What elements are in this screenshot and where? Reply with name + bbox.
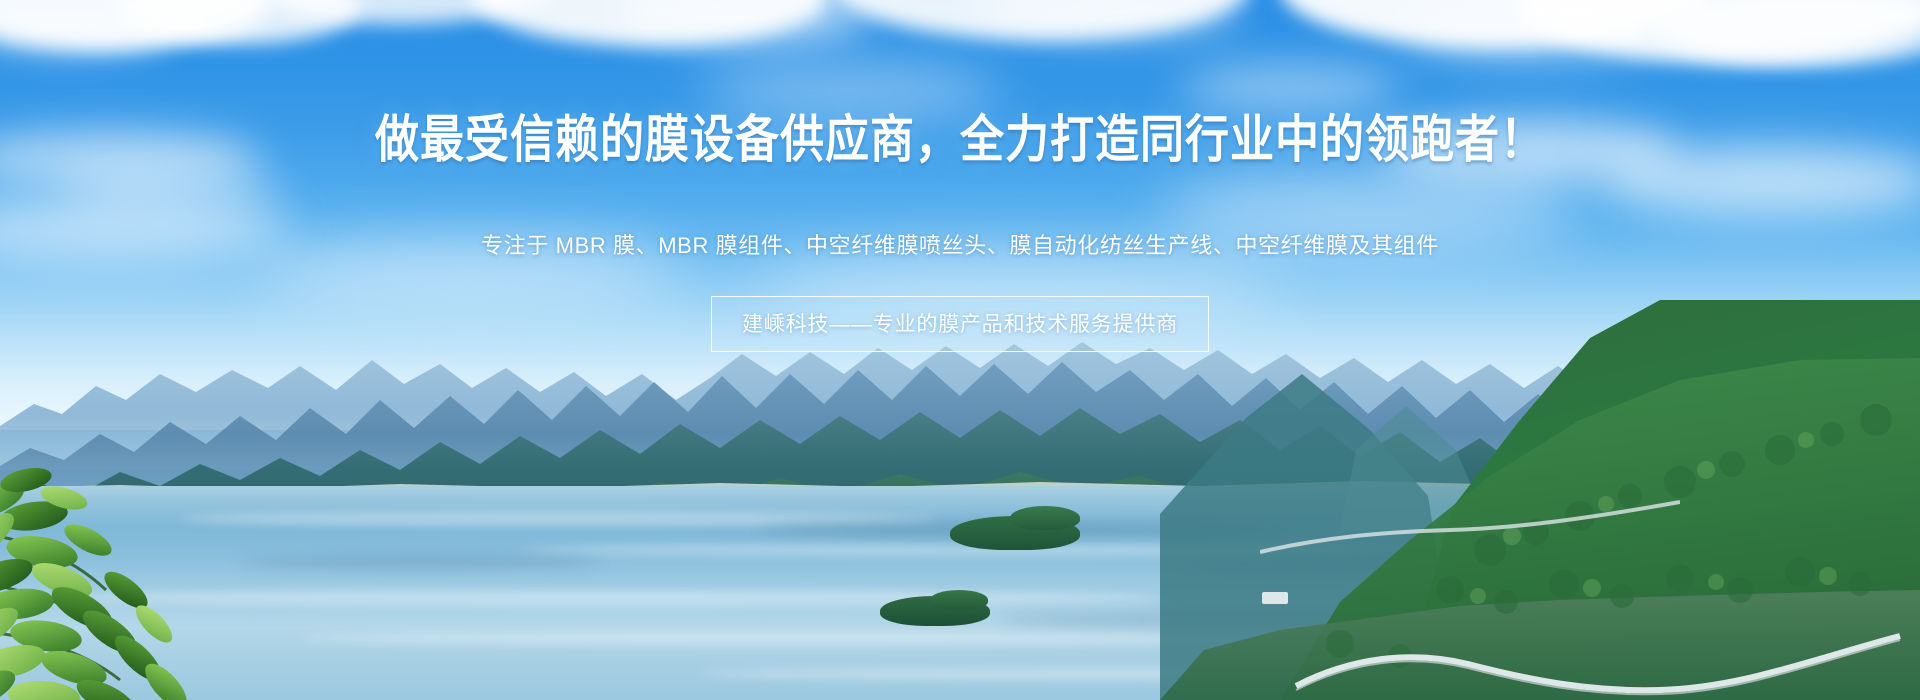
shore-building: [1262, 592, 1288, 604]
banner-tagline-box: 建嵊科技——专业的膜产品和技术服务提供商: [711, 296, 1209, 352]
tagline-container: 建嵊科技——专业的膜产品和技术服务提供商: [0, 296, 1920, 352]
island: [930, 590, 988, 610]
foreground-foliage: [0, 380, 390, 700]
hero-banner: 做最受信赖的膜设备供应商，全力打造同行业中的领跑者！ 专注于 MBR 膜、MBR…: [0, 0, 1920, 700]
cloud-icon: [1400, 6, 1660, 60]
cloud-icon: [1180, 64, 1400, 112]
banner-headline: 做最受信赖的膜设备供应商，全力打造同行业中的领跑者！: [0, 112, 1920, 169]
banner-subtitle: 专注于 MBR 膜、MBR 膜组件、中空纤维膜喷丝头、膜自动化纺丝生产线、中空纤…: [0, 228, 1920, 260]
island: [1010, 506, 1080, 530]
lakeside-road-upper: [1260, 476, 1680, 566]
